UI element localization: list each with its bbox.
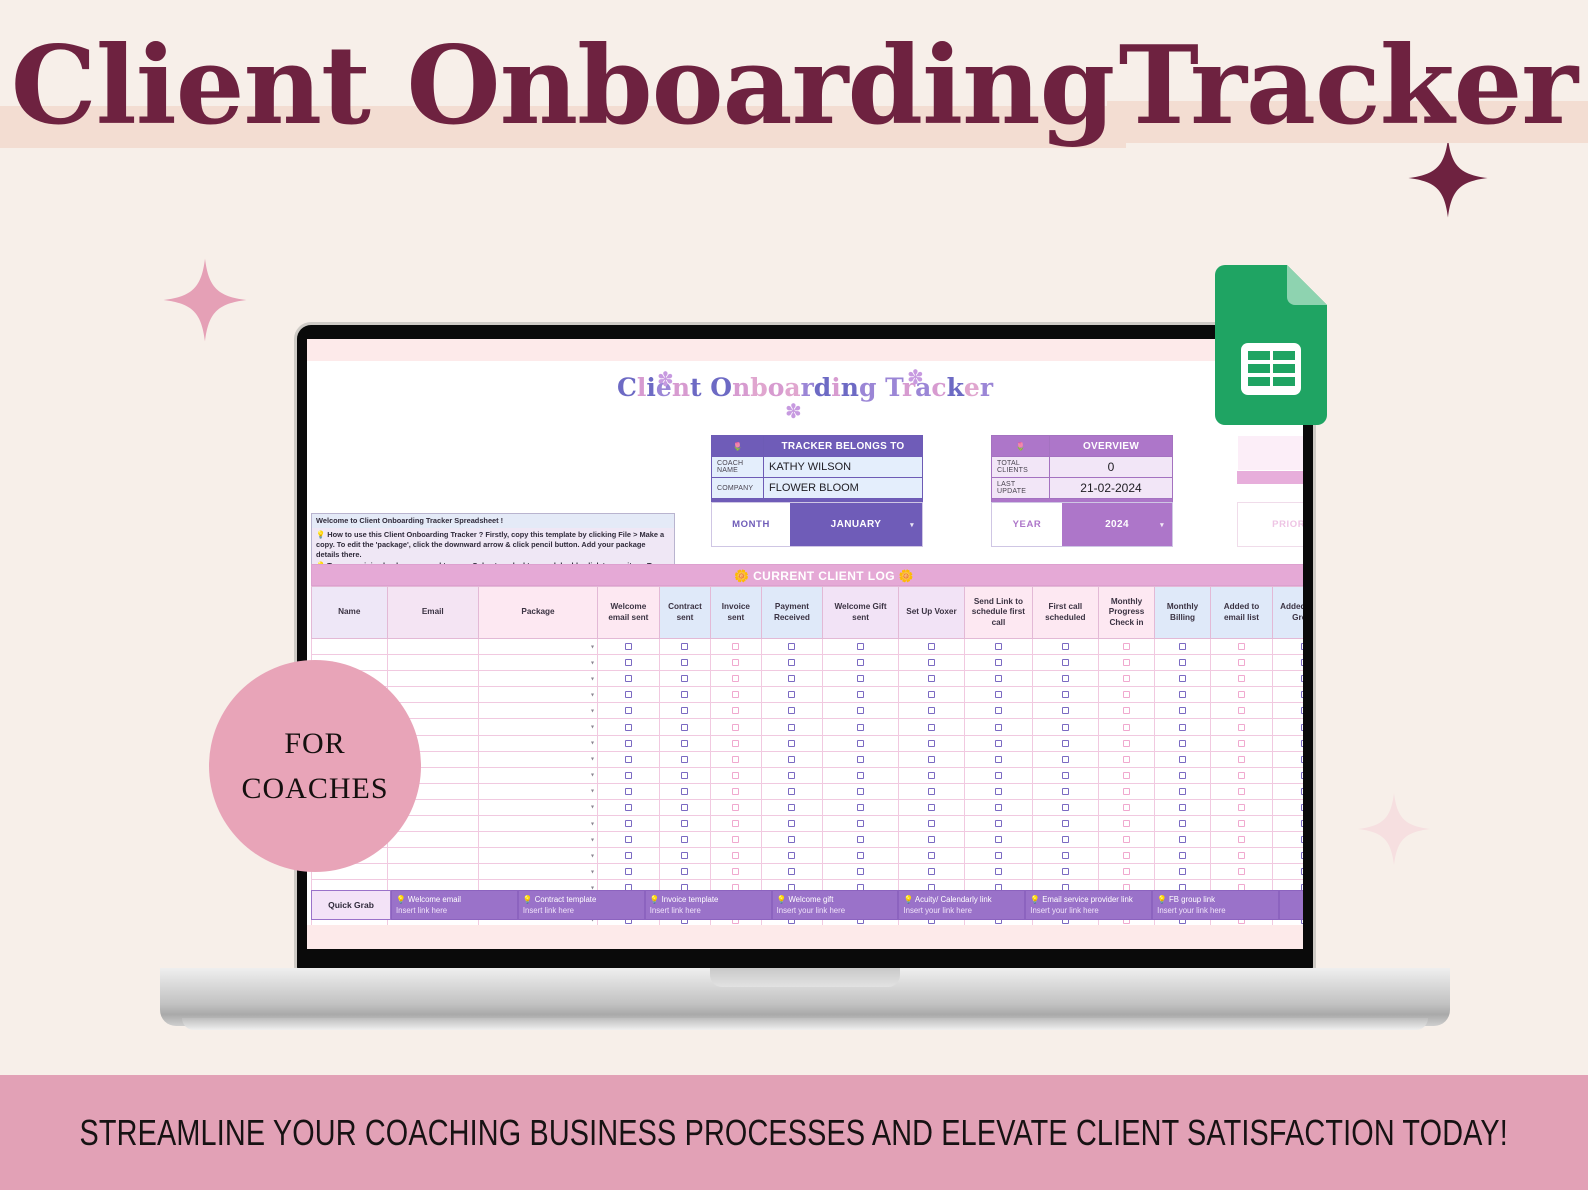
checkbox-cell[interactable]: [659, 735, 710, 751]
checkbox-cell[interactable]: [659, 767, 710, 783]
checkbox[interactable]: [788, 643, 795, 650]
checkbox-cell[interactable]: [1211, 719, 1273, 735]
dropdown-cell[interactable]: [479, 848, 598, 864]
checkbox[interactable]: [995, 756, 1002, 763]
checkbox[interactable]: [995, 868, 1002, 875]
checkbox-cell[interactable]: [965, 864, 1032, 880]
checkbox-cell[interactable]: [597, 832, 659, 848]
dropdown-cell[interactable]: [479, 751, 598, 767]
quick-grab-item-value[interactable]: Insert your link here: [777, 905, 894, 916]
checkbox[interactable]: [857, 788, 864, 795]
checkbox-cell[interactable]: [711, 655, 761, 671]
checkbox-cell[interactable]: [823, 703, 899, 719]
checkbox-cell[interactable]: [1032, 848, 1098, 864]
checkbox-cell[interactable]: [711, 687, 761, 703]
checkbox-cell[interactable]: [1211, 816, 1273, 832]
checkbox-cell[interactable]: [1098, 687, 1154, 703]
spreadsheet[interactable]: ✽ ✽ ✽ Client Onboarding Tracker Welcome …: [307, 339, 1303, 949]
checkbox-cell[interactable]: [1032, 783, 1098, 799]
checkbox-cell[interactable]: [761, 816, 823, 832]
checkbox-cell[interactable]: [1272, 783, 1303, 799]
checkbox-cell[interactable]: [1032, 671, 1098, 687]
quick-grab-item[interactable]: 💡 Welcome giftInsert your link here: [772, 890, 899, 920]
checkbox[interactable]: [1301, 643, 1303, 650]
checkbox[interactable]: [1062, 691, 1069, 698]
checkbox[interactable]: [1238, 788, 1245, 795]
checkbox[interactable]: [681, 772, 688, 779]
text-cell[interactable]: [387, 687, 479, 703]
checkbox[interactable]: [928, 756, 935, 763]
checkbox-cell[interactable]: [898, 719, 964, 735]
checkbox[interactable]: [788, 756, 795, 763]
checkbox[interactable]: [732, 659, 739, 666]
checkbox[interactable]: [1179, 868, 1186, 875]
checkbox[interactable]: [1238, 740, 1245, 747]
checkbox-cell[interactable]: [711, 767, 761, 783]
checkbox[interactable]: [681, 804, 688, 811]
checkbox[interactable]: [1062, 836, 1069, 843]
dropdown-cell[interactable]: [479, 703, 598, 719]
checkbox[interactable]: [681, 756, 688, 763]
checkbox-cell[interactable]: [898, 767, 964, 783]
dropdown-cell[interactable]: [479, 655, 598, 671]
checkbox-cell[interactable]: [823, 639, 899, 655]
checkbox-cell[interactable]: [761, 864, 823, 880]
checkbox[interactable]: [1179, 643, 1186, 650]
checkbox-cell[interactable]: [1032, 832, 1098, 848]
checkbox-cell[interactable]: [898, 848, 964, 864]
checkbox[interactable]: [625, 691, 632, 698]
checkbox-cell[interactable]: [1272, 671, 1303, 687]
checkbox[interactable]: [1062, 643, 1069, 650]
checkbox-cell[interactable]: [898, 735, 964, 751]
checkbox-cell[interactable]: [1032, 687, 1098, 703]
checkbox-cell[interactable]: [1272, 767, 1303, 783]
quick-grab-item[interactable]: 💡 Invoice templateInsert link here: [645, 890, 772, 920]
checkbox[interactable]: [1123, 643, 1130, 650]
table-row[interactable]: [312, 639, 1304, 655]
dropdown-cell[interactable]: [479, 832, 598, 848]
checkbox[interactable]: [1238, 772, 1245, 779]
checkbox-cell[interactable]: [761, 848, 823, 864]
checkbox[interactable]: [995, 804, 1002, 811]
checkbox[interactable]: [1123, 740, 1130, 747]
month-selector[interactable]: MONTH JANUARY ▾: [711, 502, 923, 547]
checkbox-cell[interactable]: [597, 783, 659, 799]
table-row[interactable]: [312, 735, 1304, 751]
checkbox[interactable]: [732, 643, 739, 650]
checkbox[interactable]: [995, 659, 1002, 666]
checkbox[interactable]: [1301, 820, 1303, 827]
checkbox-cell[interactable]: [965, 832, 1032, 848]
checkbox[interactable]: [1301, 772, 1303, 779]
checkbox[interactable]: [625, 868, 632, 875]
checkbox[interactable]: [1179, 675, 1186, 682]
checkbox[interactable]: [788, 740, 795, 747]
checkbox-cell[interactable]: [711, 735, 761, 751]
checkbox[interactable]: [1301, 675, 1303, 682]
checkbox-cell[interactable]: [1272, 799, 1303, 815]
checkbox[interactable]: [928, 788, 935, 795]
dropdown-cell[interactable]: [479, 639, 598, 655]
checkbox[interactable]: [1301, 756, 1303, 763]
checkbox[interactable]: [732, 804, 739, 811]
checkbox-cell[interactable]: [711, 832, 761, 848]
checkbox[interactable]: [732, 836, 739, 843]
dropdown-cell[interactable]: [479, 864, 598, 880]
checkbox[interactable]: [995, 852, 1002, 859]
priority-selector[interactable]: PRIORITY: [1237, 502, 1303, 547]
checkbox[interactable]: [1123, 820, 1130, 827]
checkbox-cell[interactable]: [1032, 719, 1098, 735]
checkbox[interactable]: [1301, 836, 1303, 843]
checkbox[interactable]: [1062, 707, 1069, 714]
checkbox-cell[interactable]: [898, 639, 964, 655]
checkbox-cell[interactable]: [1098, 655, 1154, 671]
checkbox-cell[interactable]: [761, 832, 823, 848]
checkbox[interactable]: [788, 868, 795, 875]
checkbox[interactable]: [1238, 820, 1245, 827]
checkbox-cell[interactable]: [1272, 687, 1303, 703]
checkbox-cell[interactable]: [761, 735, 823, 751]
checkbox-cell[interactable]: [711, 799, 761, 815]
checkbox-cell[interactable]: [823, 783, 899, 799]
checkbox[interactable]: [995, 675, 1002, 682]
checkbox[interactable]: [732, 724, 739, 731]
checkbox-cell[interactable]: [823, 671, 899, 687]
checkbox[interactable]: [681, 643, 688, 650]
checkbox[interactable]: [1062, 659, 1069, 666]
checkbox[interactable]: [1123, 707, 1130, 714]
checkbox-cell[interactable]: [898, 799, 964, 815]
checkbox[interactable]: [995, 740, 1002, 747]
quick-grab-item[interactable]: 💡 Contract templateInsert link here: [518, 890, 645, 920]
checkbox-cell[interactable]: [823, 719, 899, 735]
checkbox-cell[interactable]: [1155, 767, 1211, 783]
checkbox-cell[interactable]: [1032, 816, 1098, 832]
checkbox-cell[interactable]: [1098, 751, 1154, 767]
checkbox[interactable]: [1062, 804, 1069, 811]
checkbox[interactable]: [681, 820, 688, 827]
quick-grab-item-value[interactable]: Insert link here: [523, 905, 640, 916]
checkbox[interactable]: [995, 836, 1002, 843]
checkbox[interactable]: [928, 707, 935, 714]
checkbox[interactable]: [788, 804, 795, 811]
checkbox-cell[interactable]: [761, 639, 823, 655]
checkbox-cell[interactable]: [1098, 799, 1154, 815]
checkbox-cell[interactable]: [965, 751, 1032, 767]
checkbox-cell[interactable]: [597, 767, 659, 783]
checkbox-cell[interactable]: [711, 703, 761, 719]
checkbox-cell[interactable]: [965, 655, 1032, 671]
checkbox-cell[interactable]: [1272, 639, 1303, 655]
checkbox[interactable]: [857, 804, 864, 811]
year-value[interactable]: 2024 ▾: [1062, 503, 1172, 546]
checkbox-cell[interactable]: [597, 671, 659, 687]
checkbox[interactable]: [1238, 852, 1245, 859]
table-row[interactable]: [312, 832, 1304, 848]
checkbox-cell[interactable]: [1272, 816, 1303, 832]
checkbox-cell[interactable]: [965, 783, 1032, 799]
checkbox-cell[interactable]: [1155, 848, 1211, 864]
text-cell[interactable]: [387, 639, 479, 655]
table-row[interactable]: [312, 703, 1304, 719]
checkbox-cell[interactable]: [761, 655, 823, 671]
checkbox[interactable]: [857, 756, 864, 763]
checkbox[interactable]: [857, 724, 864, 731]
checkbox-cell[interactable]: [1032, 864, 1098, 880]
quick-grab-item-value[interactable]: Insert your link here: [1157, 905, 1274, 916]
checkbox[interactable]: [1238, 868, 1245, 875]
checkbox-cell[interactable]: [898, 751, 964, 767]
checkbox[interactable]: [732, 756, 739, 763]
dropdown-cell[interactable]: [479, 687, 598, 703]
checkbox[interactable]: [625, 675, 632, 682]
checkbox[interactable]: [681, 691, 688, 698]
checkbox[interactable]: [1062, 675, 1069, 682]
checkbox-cell[interactable]: [1098, 832, 1154, 848]
checkbox[interactable]: [857, 707, 864, 714]
checkbox[interactable]: [1179, 788, 1186, 795]
checkbox[interactable]: [788, 691, 795, 698]
dropdown-cell[interactable]: [479, 799, 598, 815]
checkbox[interactable]: [1062, 756, 1069, 763]
checkbox-cell[interactable]: [711, 751, 761, 767]
checkbox[interactable]: [732, 788, 739, 795]
checkbox[interactable]: [1238, 675, 1245, 682]
checkbox-cell[interactable]: [1211, 655, 1273, 671]
checkbox-cell[interactable]: [659, 816, 710, 832]
checkbox[interactable]: [857, 691, 864, 698]
company-value[interactable]: FLOWER BLOOM: [764, 478, 923, 499]
checkbox-cell[interactable]: [597, 735, 659, 751]
checkbox-cell[interactable]: [597, 848, 659, 864]
checkbox[interactable]: [1179, 707, 1186, 714]
checkbox-cell[interactable]: [1211, 639, 1273, 655]
quick-grab-item-value[interactable]: Insert your link here: [1030, 905, 1147, 916]
checkbox-cell[interactable]: [823, 687, 899, 703]
table-row[interactable]: [312, 767, 1304, 783]
checkbox-cell[interactable]: [898, 655, 964, 671]
checkbox[interactable]: [681, 724, 688, 731]
checkbox-cell[interactable]: [1272, 864, 1303, 880]
checkbox[interactable]: [788, 788, 795, 795]
checkbox[interactable]: [1238, 659, 1245, 666]
checkbox[interactable]: [995, 820, 1002, 827]
checkbox[interactable]: [1062, 820, 1069, 827]
checkbox[interactable]: [928, 804, 935, 811]
checkbox[interactable]: [1123, 659, 1130, 666]
checkbox[interactable]: [732, 675, 739, 682]
checkbox-cell[interactable]: [1211, 767, 1273, 783]
checkbox-cell[interactable]: [965, 816, 1032, 832]
dropdown-cell[interactable]: [479, 767, 598, 783]
checkbox-cell[interactable]: [1098, 639, 1154, 655]
checkbox-cell[interactable]: [1032, 703, 1098, 719]
checkbox-cell[interactable]: [823, 848, 899, 864]
checkbox[interactable]: [1123, 691, 1130, 698]
checkbox[interactable]: [1062, 868, 1069, 875]
text-cell[interactable]: [387, 655, 479, 671]
checkbox-cell[interactable]: [1211, 687, 1273, 703]
checkbox-cell[interactable]: [659, 832, 710, 848]
checkbox[interactable]: [928, 659, 935, 666]
checkbox[interactable]: [928, 740, 935, 747]
checkbox-cell[interactable]: [711, 719, 761, 735]
checkbox-cell[interactable]: [965, 799, 1032, 815]
checkbox[interactable]: [1123, 836, 1130, 843]
checkbox-cell[interactable]: [1155, 751, 1211, 767]
checkbox[interactable]: [1062, 724, 1069, 731]
quick-grab-item[interactable]: 💡 Welcome emailInsert link here: [391, 890, 518, 920]
checkbox-cell[interactable]: [898, 703, 964, 719]
dropdown-cell[interactable]: [479, 735, 598, 751]
checkbox[interactable]: [995, 772, 1002, 779]
checkbox-cell[interactable]: [597, 799, 659, 815]
checkbox-cell[interactable]: [1098, 735, 1154, 751]
checkbox[interactable]: [928, 675, 935, 682]
text-cell[interactable]: [387, 671, 479, 687]
checkbox-cell[interactable]: [1098, 671, 1154, 687]
checkbox-cell[interactable]: [1272, 655, 1303, 671]
checkbox-cell[interactable]: [1155, 816, 1211, 832]
checkbox[interactable]: [857, 852, 864, 859]
checkbox[interactable]: [1238, 756, 1245, 763]
checkbox-cell[interactable]: [1155, 735, 1211, 751]
checkbox[interactable]: [625, 643, 632, 650]
table-row[interactable]: [312, 864, 1304, 880]
table-row[interactable]: [312, 799, 1304, 815]
checkbox-cell[interactable]: [1032, 655, 1098, 671]
checkbox-cell[interactable]: [659, 655, 710, 671]
checkbox-cell[interactable]: [1155, 639, 1211, 655]
checkbox-cell[interactable]: [823, 832, 899, 848]
checkbox[interactable]: [788, 675, 795, 682]
checkbox[interactable]: [928, 643, 935, 650]
checkbox[interactable]: [732, 852, 739, 859]
checkbox[interactable]: [681, 707, 688, 714]
dropdown-cell[interactable]: [479, 719, 598, 735]
checkbox-cell[interactable]: [898, 832, 964, 848]
checkbox-cell[interactable]: [1211, 832, 1273, 848]
checkbox[interactable]: [788, 724, 795, 731]
checkbox-cell[interactable]: [597, 751, 659, 767]
table-row[interactable]: [312, 816, 1304, 832]
checkbox[interactable]: [1238, 836, 1245, 843]
checkbox[interactable]: [928, 772, 935, 779]
checkbox-cell[interactable]: [1098, 767, 1154, 783]
checkbox-cell[interactable]: [761, 703, 823, 719]
checkbox-cell[interactable]: [898, 816, 964, 832]
checkbox-cell[interactable]: [597, 703, 659, 719]
checkbox[interactable]: [625, 820, 632, 827]
checkbox-cell[interactable]: [1155, 655, 1211, 671]
checkbox-cell[interactable]: [659, 703, 710, 719]
checkbox[interactable]: [1179, 691, 1186, 698]
table-row[interactable]: [312, 671, 1304, 687]
checkbox[interactable]: [857, 868, 864, 875]
checkbox[interactable]: [788, 772, 795, 779]
checkbox-cell[interactable]: [1211, 735, 1273, 751]
checkbox[interactable]: [1062, 788, 1069, 795]
coach-name-value[interactable]: KATHY WILSON: [764, 457, 923, 478]
checkbox[interactable]: [1123, 675, 1130, 682]
checkbox-cell[interactable]: [823, 864, 899, 880]
checkbox-cell[interactable]: [1032, 735, 1098, 751]
checkbox-cell[interactable]: [761, 671, 823, 687]
checkbox[interactable]: [995, 724, 1002, 731]
checkbox[interactable]: [928, 852, 935, 859]
checkbox-cell[interactable]: [1155, 703, 1211, 719]
checkbox[interactable]: [681, 868, 688, 875]
checkbox[interactable]: [1301, 852, 1303, 859]
checkbox-cell[interactable]: [1211, 848, 1273, 864]
checkbox-cell[interactable]: [1098, 864, 1154, 880]
checkbox-cell[interactable]: [1155, 832, 1211, 848]
chevron-down-icon-year[interactable]: ▾: [1160, 521, 1164, 529]
checkbox-cell[interactable]: [761, 767, 823, 783]
checkbox-cell[interactable]: [659, 848, 710, 864]
checkbox[interactable]: [1123, 724, 1130, 731]
checkbox[interactable]: [928, 820, 935, 827]
checkbox[interactable]: [681, 836, 688, 843]
checkbox-cell[interactable]: [597, 639, 659, 655]
table-row[interactable]: [312, 687, 1304, 703]
checkbox-cell[interactable]: [1211, 703, 1273, 719]
checkbox[interactable]: [1301, 788, 1303, 795]
checkbox-cell[interactable]: [1032, 639, 1098, 655]
checkbox[interactable]: [1179, 836, 1186, 843]
checkbox-cell[interactable]: [823, 767, 899, 783]
checkbox-cell[interactable]: [597, 655, 659, 671]
checkbox-cell[interactable]: [1155, 864, 1211, 880]
checkbox-cell[interactable]: [965, 703, 1032, 719]
table-row[interactable]: [312, 848, 1304, 864]
checkbox-cell[interactable]: [711, 848, 761, 864]
quick-grab-item-value[interactable]: Insert link here: [650, 905, 767, 916]
checkbox-cell[interactable]: [1098, 848, 1154, 864]
checkbox[interactable]: [1062, 772, 1069, 779]
checkbox-cell[interactable]: [711, 816, 761, 832]
checkbox[interactable]: [1123, 804, 1130, 811]
checkbox-cell[interactable]: [597, 687, 659, 703]
checkbox[interactable]: [625, 788, 632, 795]
checkbox-cell[interactable]: [659, 639, 710, 655]
checkbox-cell[interactable]: [965, 735, 1032, 751]
checkbox-cell[interactable]: [898, 687, 964, 703]
checkbox[interactable]: [732, 820, 739, 827]
checkbox[interactable]: [857, 772, 864, 779]
checkbox-cell[interactable]: [659, 783, 710, 799]
text-cell[interactable]: [387, 848, 479, 864]
checkbox[interactable]: [625, 724, 632, 731]
checkbox[interactable]: [1123, 868, 1130, 875]
checkbox-cell[interactable]: [1211, 783, 1273, 799]
checkbox[interactable]: [1301, 707, 1303, 714]
checkbox-cell[interactable]: [1032, 767, 1098, 783]
checkbox[interactable]: [788, 707, 795, 714]
checkbox[interactable]: [1179, 740, 1186, 747]
table-row[interactable]: [312, 783, 1304, 799]
checkbox-cell[interactable]: [823, 799, 899, 815]
checkbox[interactable]: [1238, 707, 1245, 714]
checkbox[interactable]: [1179, 756, 1186, 763]
checkbox[interactable]: [788, 820, 795, 827]
text-cell[interactable]: [387, 832, 479, 848]
checkbox-cell[interactable]: [965, 767, 1032, 783]
table-row[interactable]: [312, 751, 1304, 767]
checkbox[interactable]: [681, 740, 688, 747]
